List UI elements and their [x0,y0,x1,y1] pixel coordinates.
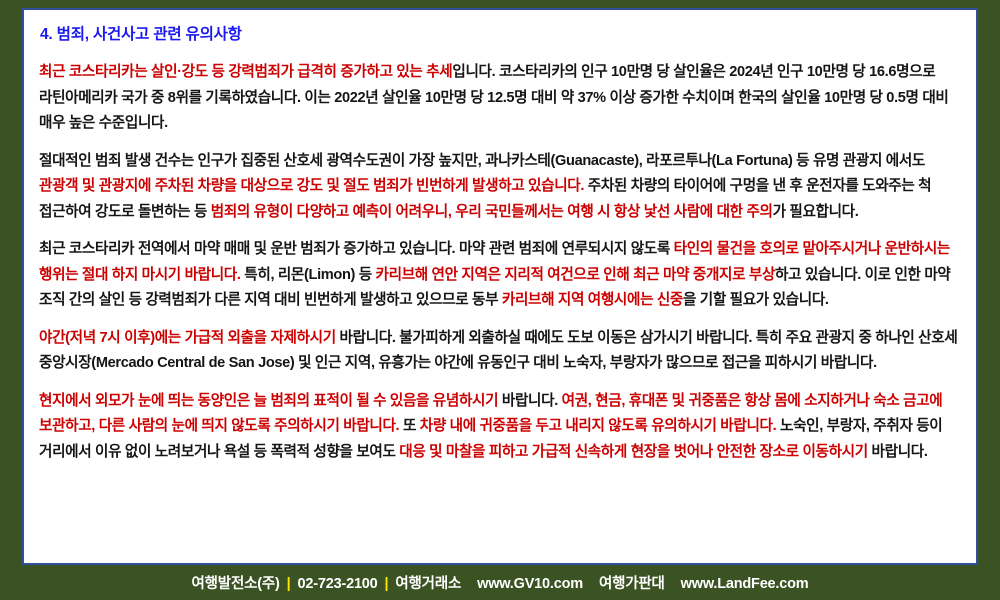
highlight-text: 야간(저녁 7시 이후)에는 가급적 외출을 자제하시기 [39,330,336,346]
body-text: 을 기할 필요가 있습니다. [683,292,829,308]
body-text: 특히, 리몬(Limon) 등 [241,267,376,283]
highlight-text: 최근 코스타리카는 살인·강도 등 강력범죄가 급격히 증가하고 있는 추세 [39,64,452,80]
body-text: 바랍니다. [868,444,928,460]
paragraph-4: 야간(저녁 7시 이후)에는 가급적 외출을 자제하시기 바랍니다. 불가피하게… [39,326,962,377]
body-text: 가 필요합니다. [773,204,859,220]
body-text: 바랍니다. [498,393,561,409]
footer-brand-label-2: 여행가판대 [599,572,665,593]
footer-company-name: 여행발전소(주) [192,572,280,593]
paragraph-5: 현지에서 외모가 눈에 띄는 동양인은 늘 범죄의 표적이 될 수 있음을 유념… [39,389,962,466]
paragraph-2: 절대적인 범죄 발생 건수는 인구가 집중된 산호세 광역수도권이 가장 높지만… [39,149,962,226]
page-root: 4. 범죄, 사건사고 관련 유의사항 최근 코스타리카는 살인·강도 등 강력… [0,0,1000,600]
paragraph-3: 최근 코스타리카 전역에서 마약 매매 및 운반 범죄가 증가하고 있습니다. … [39,237,962,314]
highlight-text: 범죄의 유형이 다양하고 예측이 어려우니, 우리 국민들께서는 여행 시 항상… [211,204,773,220]
highlight-text: 차량 내에 귀중품을 두고 내리지 않도록 유의하시기 바랍니다. [420,418,777,434]
highlight-text: 카리브해 연안 지역은 지리적 여건으로 인해 최근 마약 중개지로 부상 [376,267,775,283]
footer-brand-label-1: 여행거래소 [395,572,461,593]
footer-phone-number: 02-723-2100 [298,576,378,592]
body-text: 최근 코스타리카 전역에서 마약 매매 및 운반 범죄가 증가하고 있습니다. … [39,241,674,257]
footer-url-gv10[interactable]: www.GV10.com [477,576,583,592]
document-card: 4. 범죄, 사건사고 관련 유의사항 최근 코스타리카는 살인·강도 등 강력… [22,8,978,565]
footer-separator-1: | [287,576,291,592]
highlight-text: 관광객 및 관광지에 주차된 차량을 대상으로 강도 및 절도 범죄가 빈번하게… [39,178,584,194]
footer-separator-2: | [385,576,389,592]
body-text: 절대적인 범죄 발생 건수는 인구가 집중된 산호세 광역수도권이 가장 높지만… [39,153,925,169]
page-title: 4. 범죄, 사건사고 관련 유의사항 [40,24,962,46]
footer-content: 여행발전소(주) | 02-723-2100 | 여행거래소 www.GV10.… [192,572,809,593]
highlight-text: 현지에서 외모가 눈에 띄는 동양인은 늘 범죄의 표적이 될 수 있음을 유념… [39,393,498,409]
page-footer: 여행발전소(주) | 02-723-2100 | 여행거래소 www.GV10.… [0,565,1000,600]
body-text: 또 [399,418,420,434]
paragraph-1: 최근 코스타리카는 살인·강도 등 강력범죄가 급격히 증가하고 있는 추세입니… [39,60,962,137]
footer-url-landfee[interactable]: www.LandFee.com [681,576,809,592]
highlight-text: 카리브해 지역 여행시에는 신중 [502,292,683,308]
highlight-text: 대응 및 마찰을 피하고 가급적 신속하게 현장을 벗어나 안전한 장소로 이동… [399,444,868,460]
